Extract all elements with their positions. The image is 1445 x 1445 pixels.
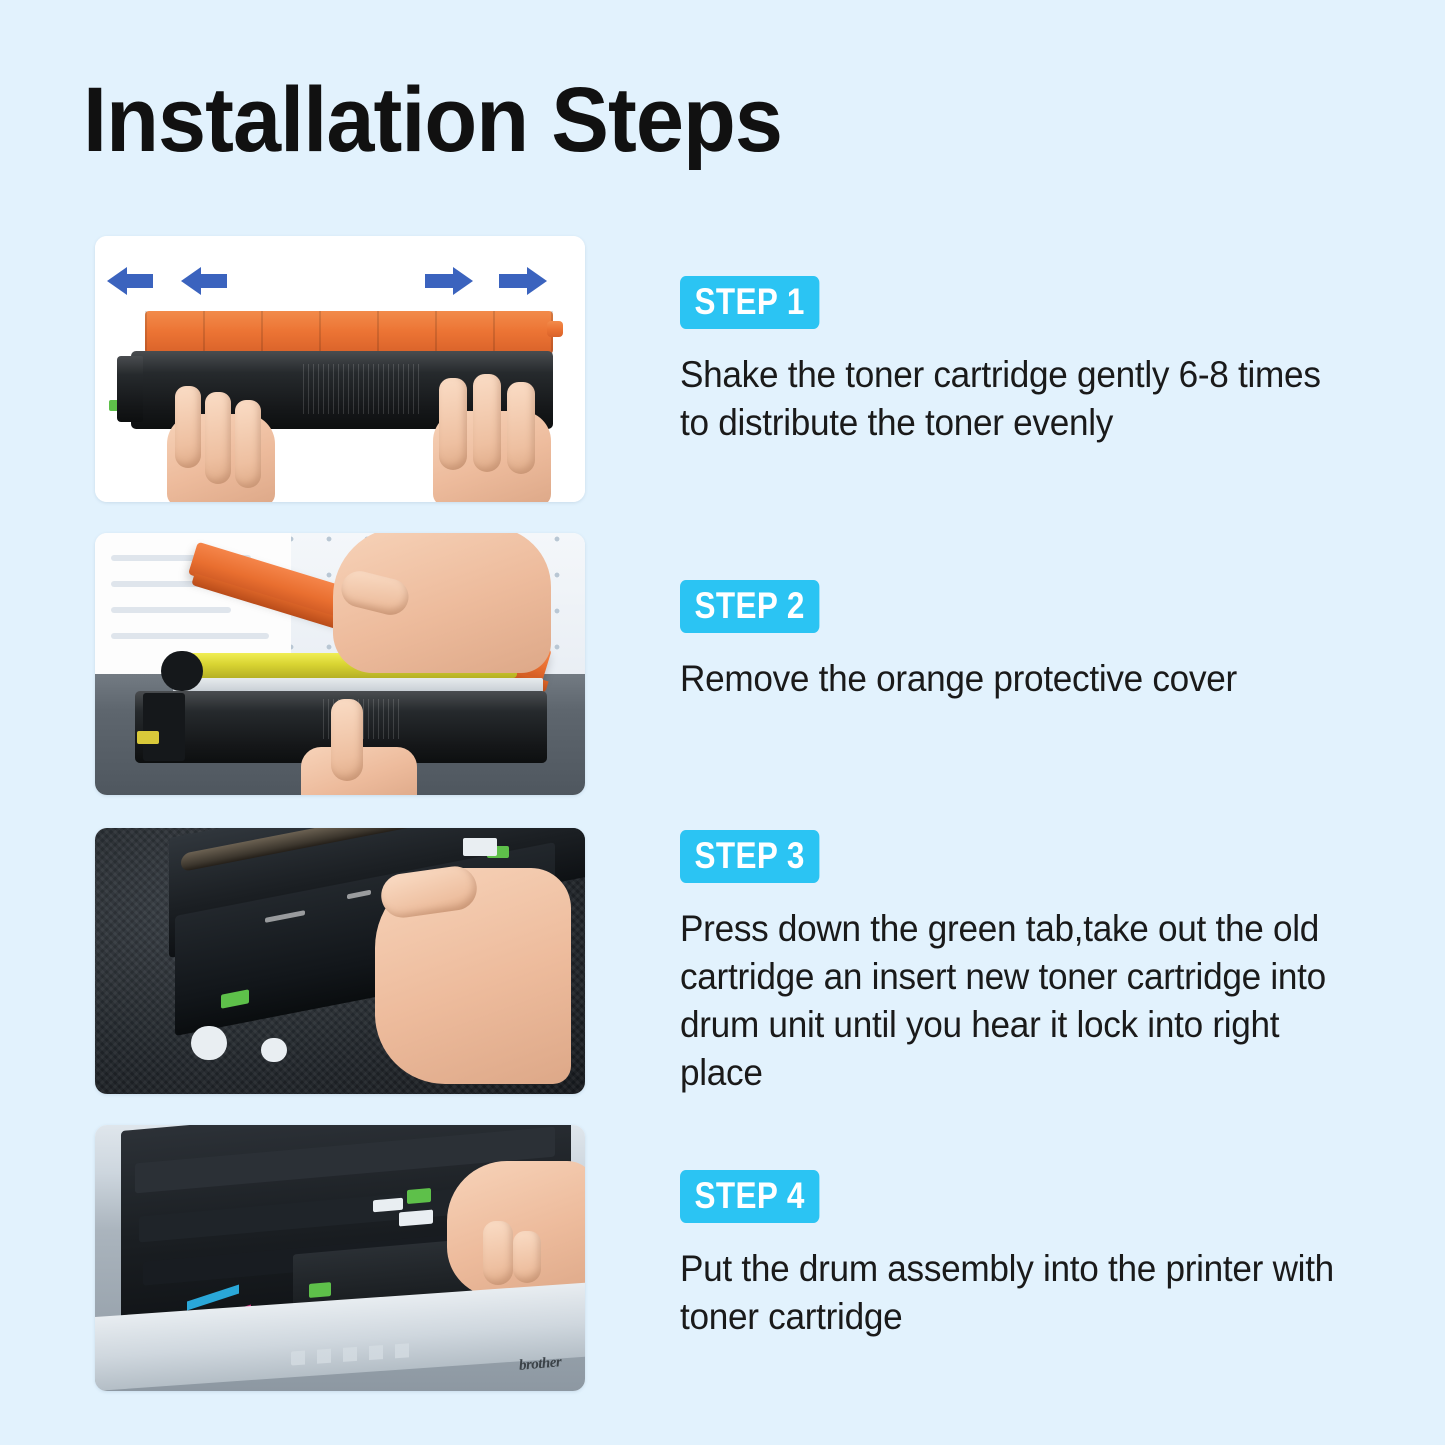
left-hand-finger-1 <box>175 386 201 468</box>
drum-end-cap <box>161 651 203 691</box>
drum-white-pin <box>261 1038 287 1062</box>
cartridge-grip-ridges <box>303 364 423 414</box>
page-title: Installation Steps <box>83 72 782 169</box>
orange-cover-tab <box>547 321 563 337</box>
step-1-text: STEP 1 Shake the toner cartridge gently … <box>680 276 1370 447</box>
left-hand-finger-2 <box>205 392 231 484</box>
step-2-text: STEP 2 Remove the orange protective cove… <box>680 580 1370 703</box>
step-2-description: Remove the orange protective cover <box>680 655 1336 703</box>
step-4-photo: brother <box>95 1125 585 1391</box>
step-4-text: STEP 4 Put the drum assembly into the pr… <box>680 1170 1370 1341</box>
step-1-photo <box>95 236 585 502</box>
right-hand-finger-3 <box>507 382 535 474</box>
printer-brand-logo: brother <box>518 1354 562 1375</box>
step-3-badge: STEP 3 <box>680 830 819 883</box>
step-1-description: Shake the toner cartridge gently 6-8 tim… <box>680 351 1336 447</box>
drum-green-tab <box>309 1282 331 1298</box>
step-4-description: Put the drum assembly into the printer w… <box>680 1245 1336 1341</box>
step-4-badge: STEP 4 <box>680 1170 819 1223</box>
step-2-badge: STEP 2 <box>680 580 819 633</box>
cartridge-left-cap <box>143 693 185 761</box>
right-hand-finger-2 <box>473 374 501 472</box>
cartridge-left-cap <box>117 356 143 422</box>
orange-cover-ridges <box>145 311 553 354</box>
thumb <box>513 1231 541 1283</box>
drum-white-handle <box>399 1210 433 1227</box>
cartridge-chip <box>137 731 159 744</box>
step-1-badge: STEP 1 <box>680 276 819 329</box>
index-finger <box>483 1221 513 1285</box>
printer-green-tab <box>407 1188 431 1204</box>
left-hand-finger-3 <box>235 400 261 488</box>
supporting-finger <box>331 699 363 781</box>
step-2-photo <box>95 533 585 795</box>
drum-white-gear <box>191 1026 227 1060</box>
right-hand-finger-1 <box>439 378 467 470</box>
step-3-photo <box>95 828 585 1094</box>
drum-label <box>463 838 497 856</box>
step-3-description: Press down the green tab,take out the ol… <box>680 905 1336 1097</box>
step-3-text: STEP 3 Press down the green tab,take out… <box>680 830 1370 1097</box>
